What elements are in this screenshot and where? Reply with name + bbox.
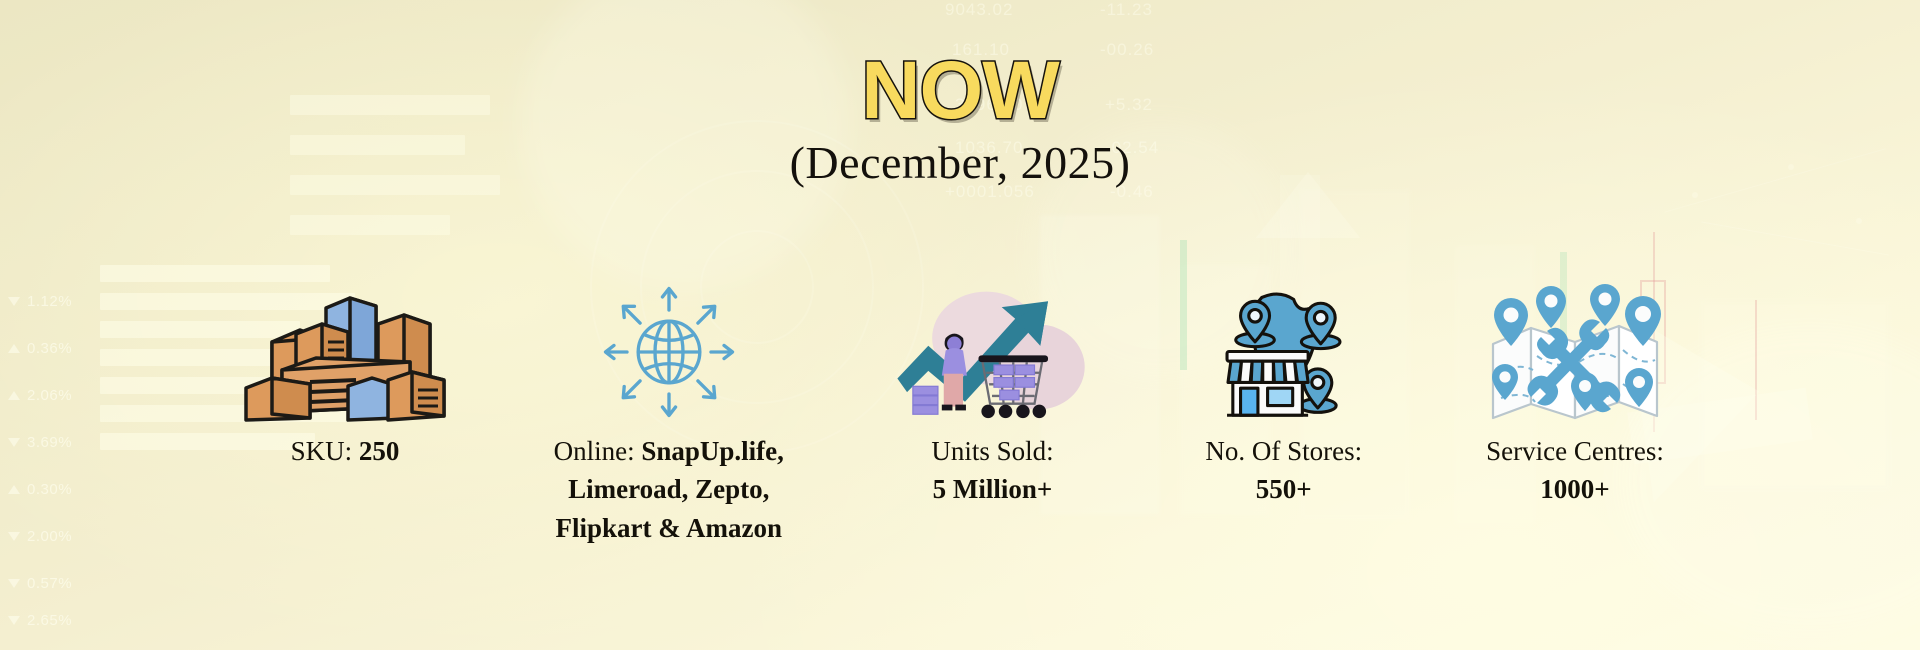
folded-map-wrench-pins-icon [1460, 282, 1690, 422]
stat-label-service-centres: Service Centres:1000+ [1486, 432, 1664, 509]
stat-label-online-prefix: Online: [554, 436, 642, 466]
stat-label-units-sold-value: 5 Million+ [933, 474, 1053, 504]
stat-label-sku-value: 250 [359, 436, 400, 466]
page-subtitle: (December, 2025) [0, 136, 1920, 189]
stat-label-service-centres-prefix: Service Centres: [1486, 436, 1664, 466]
stat-label-sku-prefix: SKU: [291, 436, 359, 466]
stat-item-online: Online: SnapUp.life, Limeroad, Zepto, Fl… [529, 282, 809, 547]
stat-label-stores: No. Of Stores:550+ [1205, 432, 1362, 509]
storefront-map-pins-icon [1169, 282, 1399, 422]
stat-label-sku: SKU: 250 [291, 432, 400, 470]
stat-label-stores-prefix: No. Of Stores: [1205, 436, 1362, 466]
stat-label-units-sold: Units Sold:5 Million+ [931, 432, 1053, 509]
stat-item-service-centres: Service Centres:1000+ [1460, 282, 1690, 509]
globe-arrows-icon [554, 282, 784, 422]
stat-item-units-sold: Units Sold:5 Million+ [878, 282, 1108, 509]
headline-block: NOW (December, 2025) [0, 52, 1920, 189]
stat-item-sku: SKU: 250 [230, 282, 460, 470]
stat-label-online: Online: SnapUp.life, Limeroad, Zepto, Fl… [529, 432, 809, 547]
stat-label-service-centres-value: 1000+ [1540, 474, 1609, 504]
growth-arrow-cart-icon [878, 282, 1108, 422]
stat-label-units-sold-prefix: Units Sold: [931, 436, 1053, 466]
stat-item-stores: No. Of Stores:550+ [1176, 282, 1391, 509]
bg-rect [1700, 300, 1890, 490]
page-title: NOW [861, 52, 1058, 130]
stat-label-stores-value: 550+ [1256, 474, 1312, 504]
stats-row: SKU: 250 [230, 282, 1690, 547]
stacked-boxes-icon [230, 282, 460, 422]
infographic-slide: 1.12% 0.36% 2.06% 3.69% 0.30% 2.00% 0.57… [0, 0, 1920, 650]
